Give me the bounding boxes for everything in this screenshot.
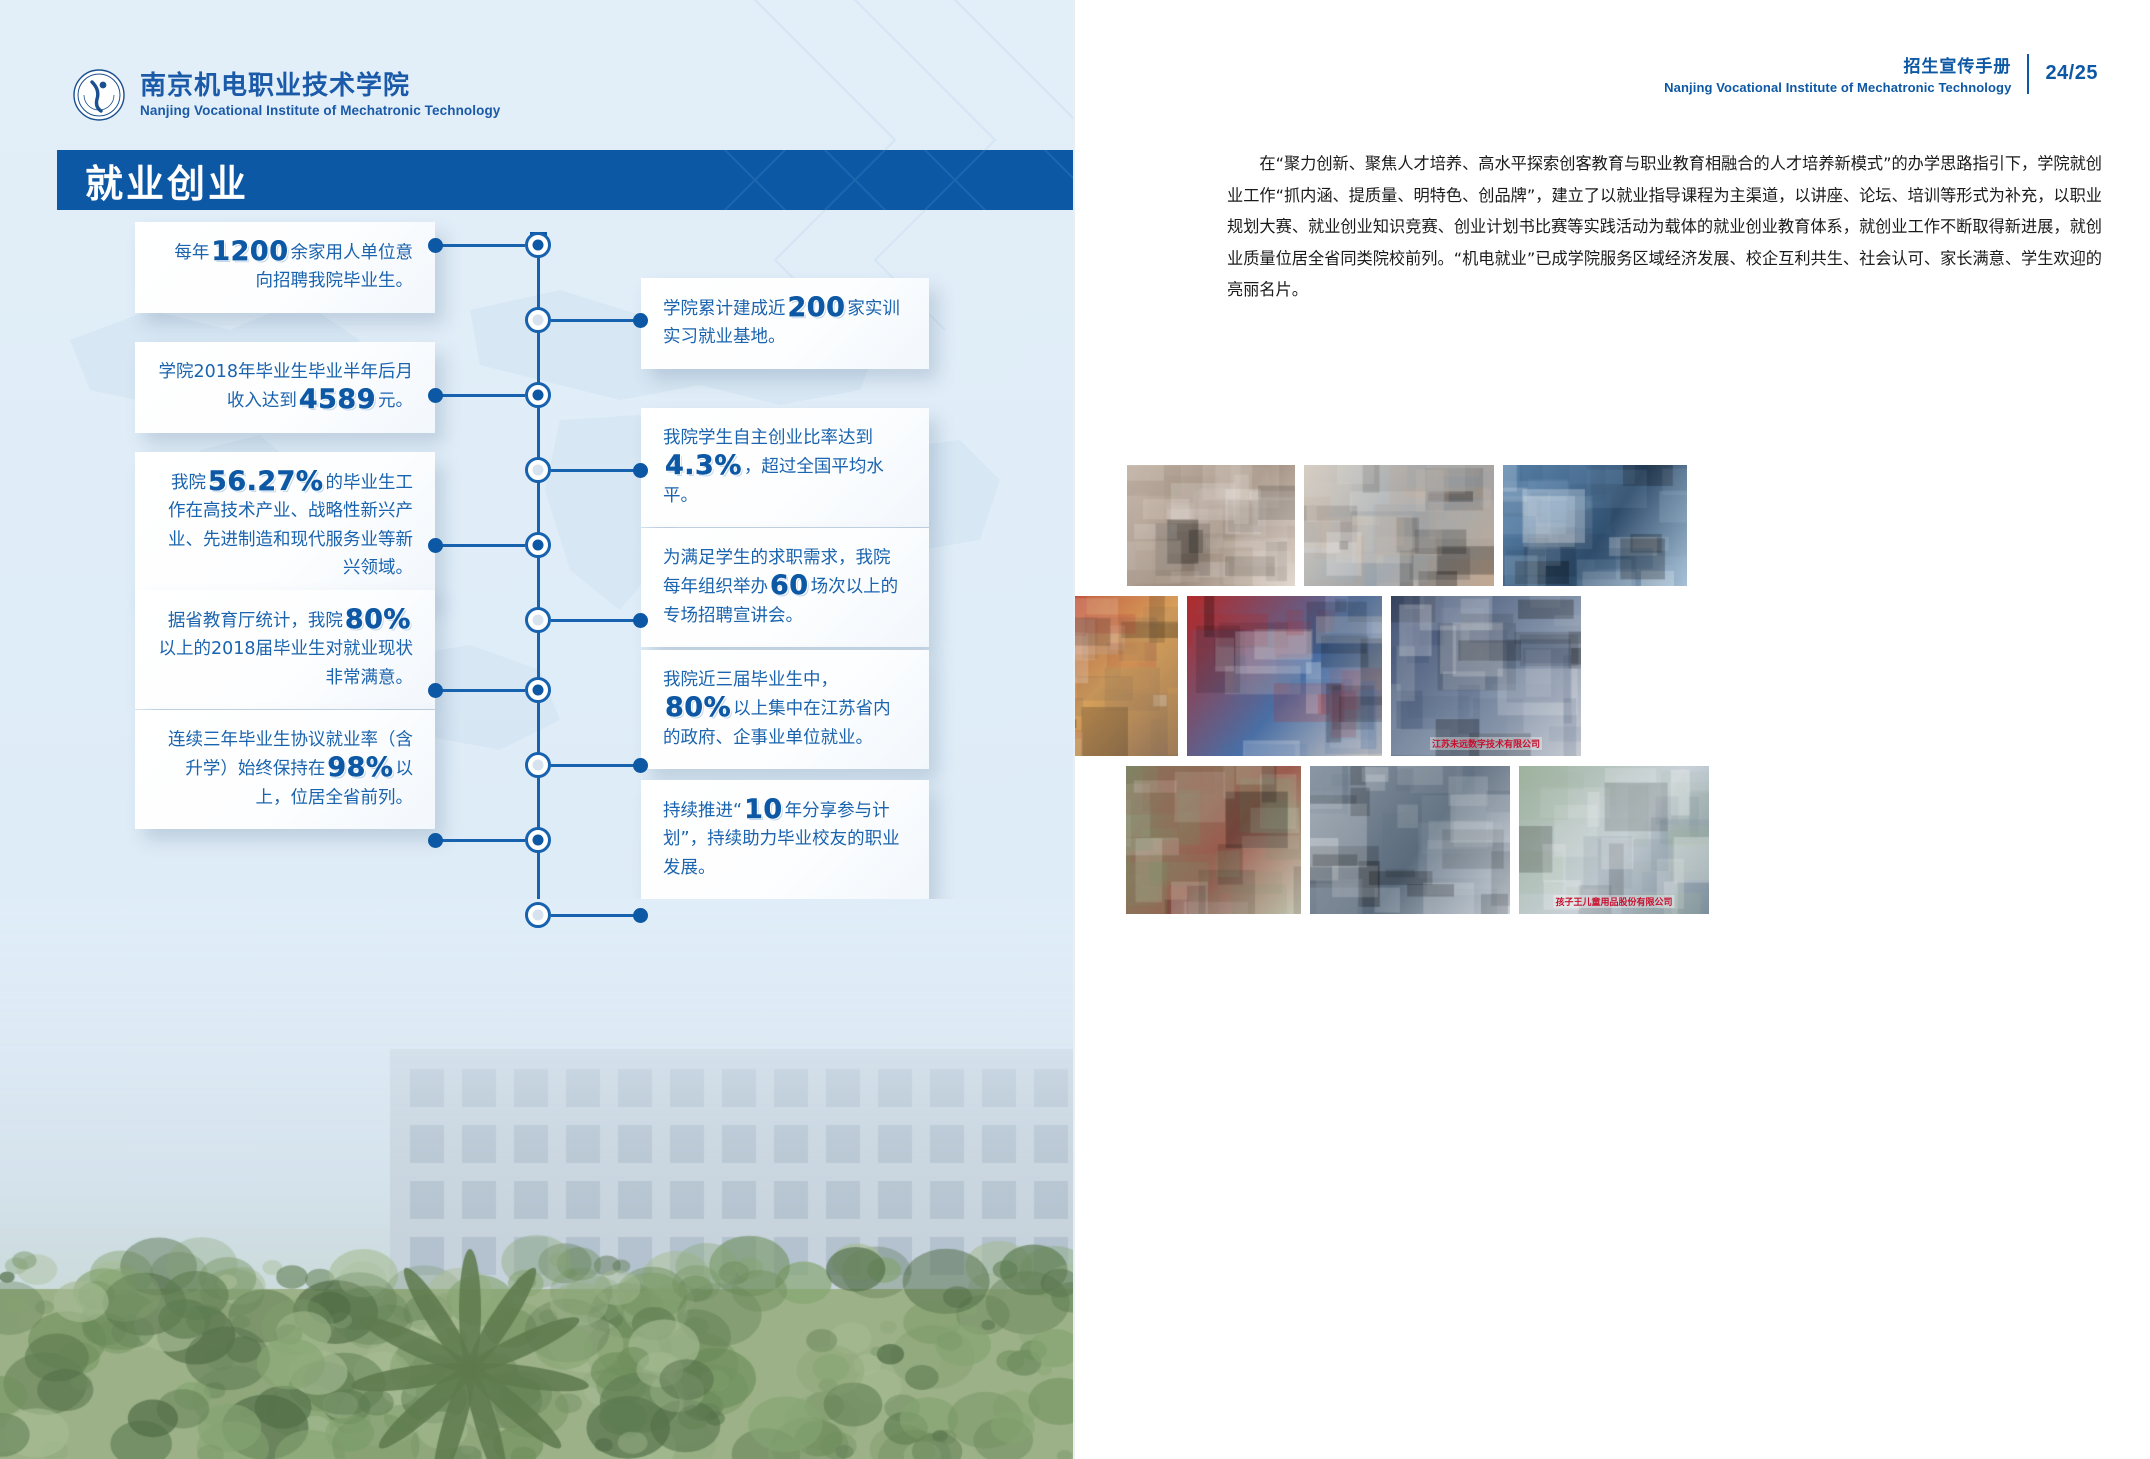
header-title-en: Nanjing Vocational Institute of Mechatro…	[1664, 80, 2011, 95]
timeline-highlight-value: 4.3%	[663, 450, 744, 481]
timeline-node-1	[525, 232, 551, 258]
timeline-connector-5	[435, 544, 525, 547]
photo-open-office: 孩子王儿童用品股份有限公司	[1519, 766, 1709, 914]
timeline-card-1: 每年1200余家用人单位意向招聘我院毕业生。	[135, 222, 435, 313]
timeline-highlight-value: 4589	[297, 384, 378, 415]
timeline-card-text: 每年1200余家用人单位意向招聘我院毕业生。	[157, 238, 413, 296]
brand-lockup: 南京机电职业技术学院 Nanjing Vocational Institute …	[72, 68, 500, 122]
timeline-connector-10	[551, 914, 641, 917]
timeline-connector-8	[551, 764, 641, 767]
photo-signing-ceremony	[1127, 465, 1295, 586]
section-title-bar: 就业创业	[57, 150, 1075, 210]
timeline-text-segment: 我院学生自主创业比率达到	[663, 428, 873, 448]
photo-train-simulator	[1503, 465, 1687, 586]
left-page: 南京机电职业技术学院 Nanjing Vocational Institute …	[0, 0, 1075, 1459]
timeline-connector-4	[551, 469, 641, 472]
timeline-highlight-value: 60	[768, 570, 811, 601]
timeline-card-6: 为满足学生的求职需求，我院每年组织举办60场次以上的专场招聘宣讲会。	[641, 528, 929, 647]
timeline-connector-dot-6	[633, 613, 648, 628]
timeline-text-segment: 我院近三届毕业生中，	[663, 670, 838, 690]
timeline-card-text: 为满足学生的求职需求，我院每年组织举办60场次以上的专场招聘宣讲会。	[663, 544, 907, 630]
brand-name-en: Nanjing Vocational Institute of Mechatro…	[140, 103, 500, 118]
brochure-spread: 南京机电职业技术学院 Nanjing Vocational Institute …	[0, 0, 2150, 1459]
timeline-card-text: 据省教育厅统计，我院80%以上的2018届毕业生对就业现状非常满意。	[157, 606, 413, 692]
timeline-connector-1	[435, 244, 525, 247]
timeline-axis	[537, 240, 540, 1055]
timeline-node-6	[525, 607, 551, 633]
timeline-connector-dot-8	[633, 758, 648, 773]
timeline-connector-dot-4	[633, 463, 648, 478]
header-title-cn: 招生宣传手册	[1664, 52, 2011, 77]
timeline-highlight-value: 10	[742, 794, 785, 825]
timeline-connector-dot-9	[428, 833, 443, 848]
timeline-node-5	[525, 532, 551, 558]
timeline-card-text: 我院近三届毕业生中，80%以上集中在江苏省内的政府、企事业单位就业。	[663, 666, 907, 752]
timeline-highlight-value: 80%	[343, 604, 413, 635]
right-page-header: 招生宣传手册 Nanjing Vocational Institute of M…	[1664, 52, 2098, 95]
timeline-card-text: 学院累计建成近200家实训实习就业基地。	[663, 294, 907, 352]
bar-decoration	[655, 150, 1075, 210]
timeline-highlight-value: 1200	[209, 236, 290, 267]
timeline-card-text: 学院2018年毕业生毕业半年后月收入达到4589元。	[157, 358, 413, 416]
photo-caption: 江苏未远数字技术有限公司	[1430, 737, 1542, 750]
timeline-connector-9	[435, 839, 525, 842]
photo-row-2: 江苏未远数字技术有限公司	[1075, 596, 1581, 756]
timeline-card-7: 据省教育厅统计，我院80%以上的2018届毕业生对就业现状非常满意。	[135, 590, 435, 709]
timeline-connector-dot-3	[428, 388, 443, 403]
timeline-text-segment: 以上的2018届毕业生对就业现状非常满意。	[158, 639, 413, 687]
page-number: 24/25	[2045, 62, 2098, 85]
timeline-card-text: 连续三年毕业生协议就业率（含升学）始终保持在98%以上，位居全省前列。	[157, 726, 413, 812]
timeline-connector-dot-2	[633, 313, 648, 328]
timeline-text-segment: 我院	[171, 473, 206, 493]
photo-group-stairs: 江苏未远数字技术有限公司	[1391, 596, 1581, 756]
intro-paragraph: 在“聚力创新、聚焦人才培养、高水平探索创客教育与职业教育相融合的人才培养新模式”…	[1227, 148, 2102, 306]
photo-alumni-banner	[1187, 596, 1382, 756]
timeline-card-4: 我院学生自主创业比率达到4.3%，超过全国平均水平。	[641, 408, 929, 527]
timeline-node-7	[525, 677, 551, 703]
university-seal-icon	[72, 68, 126, 122]
timeline-connector-2	[551, 319, 641, 322]
timeline-text-segment: 每年	[174, 243, 209, 263]
header-divider	[2027, 54, 2029, 94]
timeline-card-8: 我院近三届毕业生中，80%以上集中在江苏省内的政府、企事业单位就业。	[641, 650, 929, 769]
timeline-text-segment: 据省教育厅统计，我院	[168, 611, 343, 631]
right-page: 招生宣传手册 Nanjing Vocational Institute of M…	[1075, 0, 2150, 1459]
timeline-node-10	[525, 902, 551, 928]
timeline-connector-dot-7	[428, 683, 443, 698]
timeline-card-9: 连续三年毕业生协议就业率（含升学）始终保持在98%以上，位居全省前列。	[135, 710, 435, 829]
timeline-node-3	[525, 382, 551, 408]
timeline-connector-3	[435, 394, 525, 397]
timeline-node-4	[525, 457, 551, 483]
photo-row-3: 孩子王儿童用品股份有限公司	[1126, 766, 1709, 914]
photo-students-gate	[1126, 766, 1301, 914]
intro-paragraph-block: 在“聚力创新、聚焦人才培养、高水平探索创客教育与职业教育相融合的人才培养新模式”…	[1227, 148, 2102, 306]
timeline-card-2: 学院累计建成近200家实训实习就业基地。	[641, 278, 929, 369]
photo-control-room	[1310, 766, 1510, 914]
timeline-connector-7	[435, 689, 525, 692]
timeline-text-segment: 持续推进“	[663, 801, 742, 821]
timeline-card-10: 持续推进“10年分享参与计划”，持续助力毕业校友的职业发展。	[641, 780, 929, 899]
timeline-node-8	[525, 752, 551, 778]
timeline-highlight-value: 56.27%	[206, 466, 325, 497]
timeline-connector-dot-10	[633, 908, 648, 923]
photo-row-1	[1127, 465, 1687, 586]
timeline-cap-bottom	[530, 1048, 547, 1065]
timeline-card-text: 我院56.27%的毕业生工作在高技术产业、战略性新兴产业、先进制造和现代服务业等…	[157, 468, 413, 582]
timeline-highlight-value: 200	[786, 292, 848, 323]
timeline-highlight-value: 80%	[663, 692, 733, 723]
timeline-node-2	[525, 307, 551, 333]
timeline-connector-6	[551, 619, 641, 622]
timeline-card-text: 持续推进“10年分享参与计划”，持续助力毕业校友的职业发展。	[663, 796, 907, 882]
brand-name-cn: 南京机电职业技术学院	[140, 72, 500, 101]
timeline-card-3: 学院2018年毕业生毕业半年后月收入达到4589元。	[135, 342, 435, 433]
timeline-card-5: 我院56.27%的毕业生工作在高技术产业、战略性新兴产业、先进制造和现代服务业等…	[135, 452, 435, 599]
timeline-connector-dot-1	[428, 238, 443, 253]
timeline-node-9	[525, 827, 551, 853]
timeline-card-text: 我院学生自主创业比率达到4.3%，超过全国平均水平。	[663, 424, 907, 510]
photo-plaque-award	[1075, 596, 1178, 756]
photo-caption: 孩子王儿童用品股份有限公司	[1553, 895, 1674, 908]
timeline: 每年1200余家用人单位意向招聘我院毕业生。学院累计建成近200家实训实习就业基…	[0, 220, 1075, 1220]
photo-meeting-room	[1304, 465, 1494, 586]
timeline-highlight-value: 98%	[325, 752, 395, 783]
page-title: 就业创业	[85, 153, 249, 208]
timeline-text-segment: 学院累计建成近	[663, 299, 786, 319]
timeline-text-segment: 元。	[378, 391, 413, 411]
timeline-connector-dot-5	[428, 538, 443, 553]
